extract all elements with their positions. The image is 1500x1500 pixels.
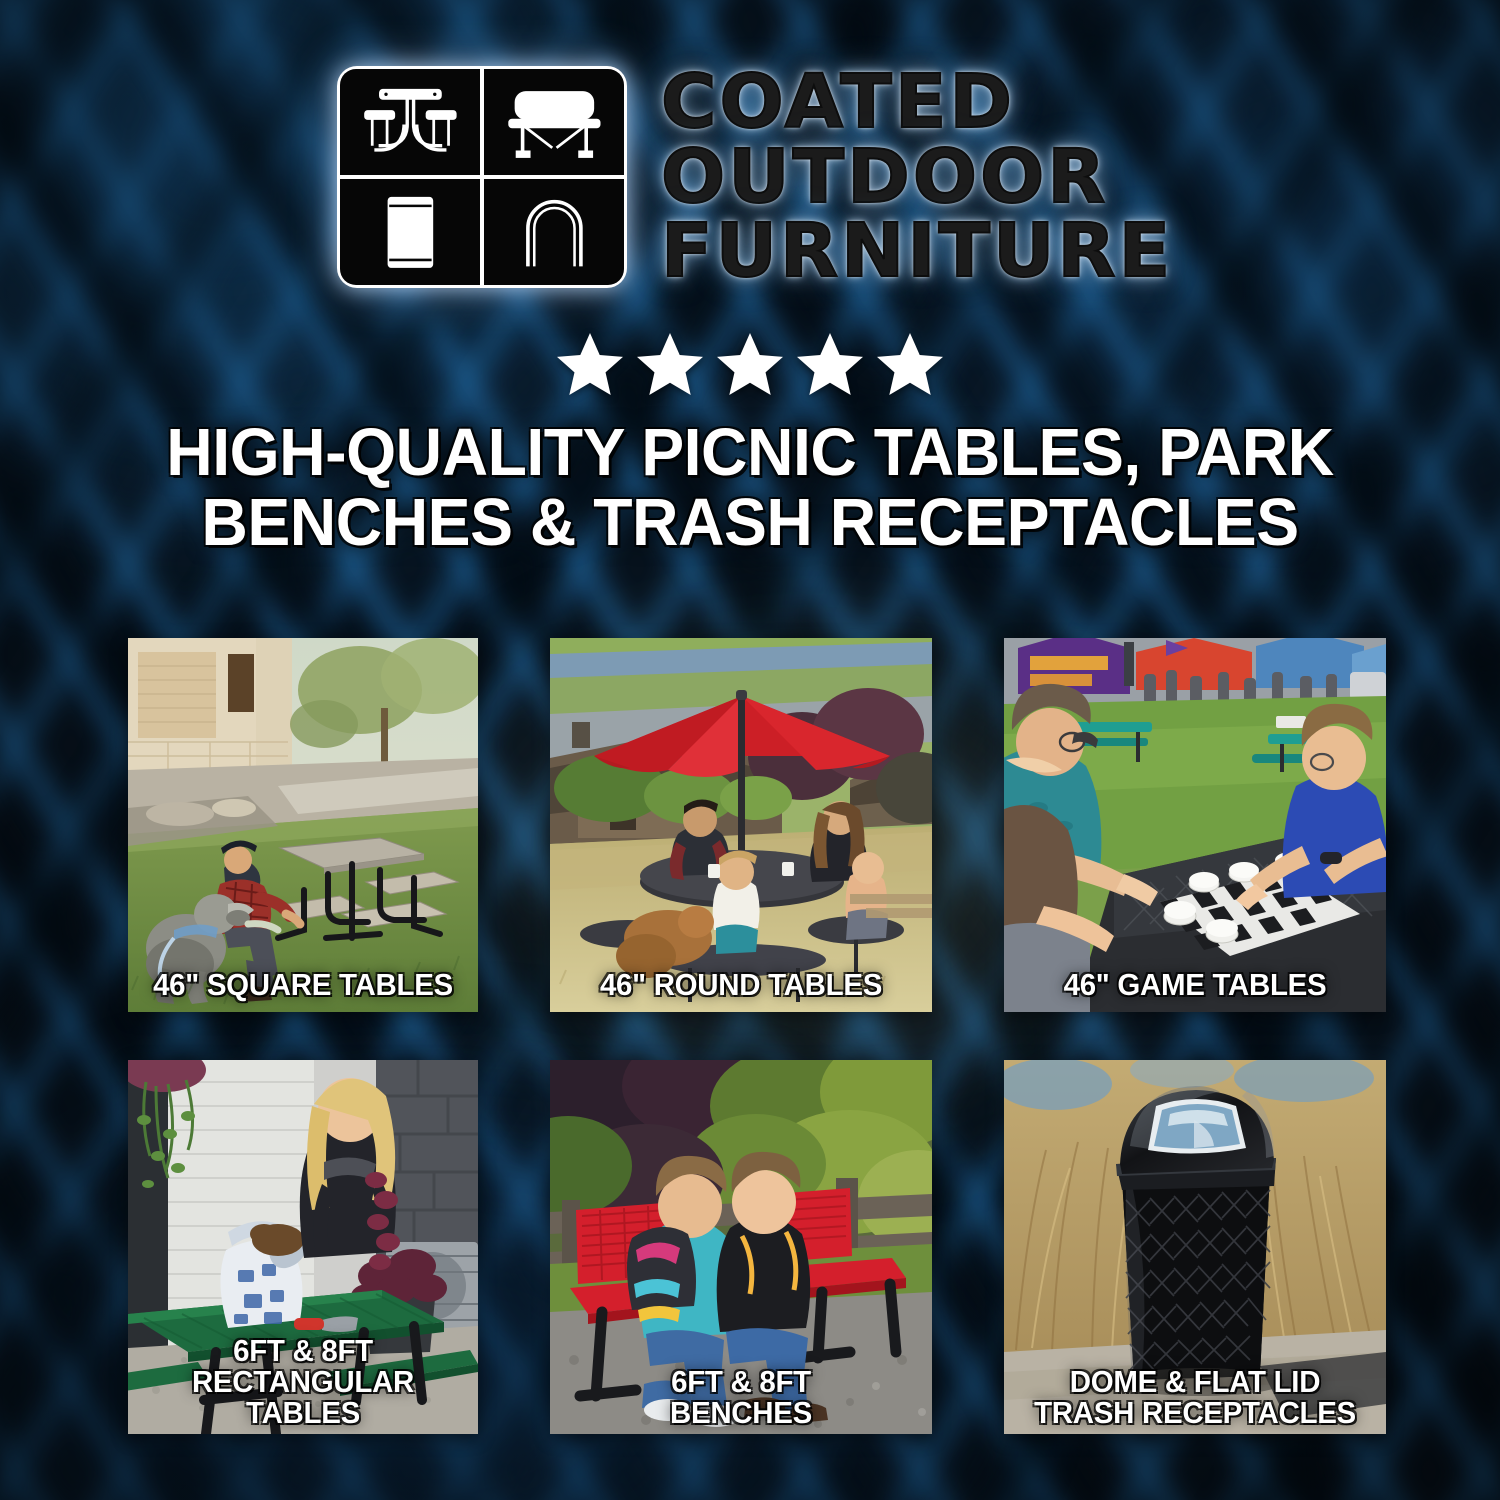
caption-line-1: 46" ROUND TABLES	[600, 967, 882, 1002]
headline-line-2: BENCHES & TRASH RECEPTACLES	[30, 488, 1470, 558]
star-icon	[717, 332, 783, 396]
park-bench-icon	[484, 69, 624, 175]
star-icon	[797, 332, 863, 396]
caption-line-1: 46" GAME TABLES	[1064, 967, 1327, 1002]
product-tile-rectangular-tables[interactable]: 6FT & 8FT RECTANGULAR TABLES	[128, 1060, 478, 1434]
trash-receptacle-icon	[340, 179, 480, 285]
logo-line-3: FURNITURE	[661, 215, 1173, 288]
tile-caption: 46" SQUARE TABLES	[137, 969, 470, 1000]
logo-line-2: OUTDOOR	[661, 141, 1173, 214]
product-tile-trash-receptacles[interactable]: DOME & FLAT LID TRASH RECEPTACLES	[1004, 1060, 1386, 1434]
brand-logo[interactable]: COATED OUTDOOR FURNITURE	[0, 0, 1500, 288]
photo-round-tables	[550, 638, 932, 1012]
caption-line-1: 6FT & 8FT	[233, 1333, 373, 1368]
caption-line-1: 6FT & 8FT	[671, 1364, 811, 1399]
caption-line-2: TRASH RECEPTACLES	[1014, 1397, 1377, 1428]
tile-caption: 46" GAME TABLES	[1014, 969, 1377, 1000]
star-icon	[557, 332, 623, 396]
tile-caption: 6FT & 8FT BENCHES	[560, 1366, 923, 1428]
logo-wordmark: COATED OUTDOOR FURNITURE	[661, 66, 1163, 288]
star-icon	[877, 332, 943, 396]
caption-line-2: BENCHES	[560, 1397, 923, 1428]
photo-game-tables	[1004, 638, 1386, 1012]
page-title: HIGH-QUALITY PICNIC TABLES, PARK BENCHES…	[30, 418, 1470, 557]
tile-caption: 6FT & 8FT RECTANGULAR TABLES	[137, 1335, 470, 1428]
tile-caption: DOME & FLAT LID TRASH RECEPTACLES	[1014, 1366, 1377, 1428]
caption-line-1: DOME & FLAT LID	[1070, 1364, 1320, 1399]
headline-line-1: HIGH-QUALITY PICNIC TABLES, PARK	[166, 415, 1333, 490]
picnic-table-icon	[340, 69, 480, 175]
bike-rack-icon	[484, 179, 624, 285]
caption-line-1: 46" SQUARE TABLES	[153, 967, 453, 1002]
caption-line-2: RECTANGULAR TABLES	[137, 1366, 470, 1428]
product-grid: 46" SQUARE TABLES	[128, 638, 1386, 1434]
product-tile-game-tables[interactable]: 46" GAME TABLES	[1004, 638, 1386, 1012]
logo-icon-grid	[337, 66, 627, 288]
product-tile-square-tables[interactable]: 46" SQUARE TABLES	[128, 638, 478, 1012]
photo-square-tables	[128, 638, 478, 1012]
rating-stars	[0, 332, 1500, 396]
product-tile-benches[interactable]: 6FT & 8FT BENCHES	[550, 1060, 932, 1434]
promo-banner: COATED OUTDOOR FURNITURE HIGH-QUALITY PI…	[0, 0, 1500, 1500]
logo-line-1: COATED	[661, 66, 1173, 139]
tile-caption: 46" ROUND TABLES	[560, 969, 923, 1000]
star-icon	[637, 332, 703, 396]
product-tile-round-tables[interactable]: 46" ROUND TABLES	[550, 638, 932, 1012]
